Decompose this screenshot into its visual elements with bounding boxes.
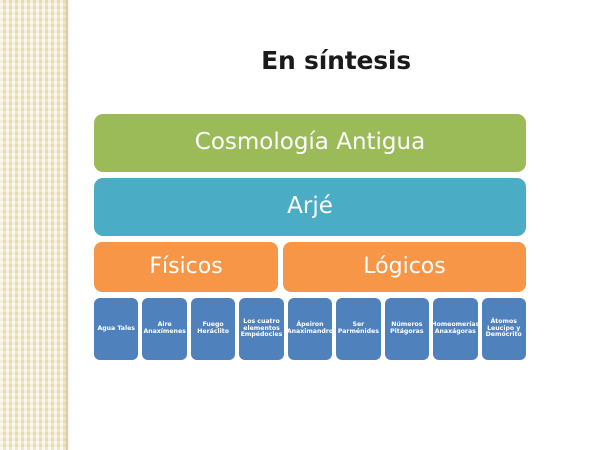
diagram-tier-arje: Arjé bbox=[94, 178, 526, 236]
diagram-node-homeomerias-anaxagoras[interactable]: Homeomerías Anaxágoras bbox=[433, 298, 477, 360]
diagram-node-numeros-pitagoras[interactable]: Números Pitágoras bbox=[385, 298, 429, 360]
node-line: Parménides bbox=[338, 329, 379, 336]
node-line: Heráclito bbox=[197, 329, 229, 336]
node-line: Agua Tales bbox=[97, 326, 135, 333]
node-line: Anaxímenes bbox=[143, 329, 185, 336]
diagram-node-apeiron-anaximandro[interactable]: Ápeiron Anaximandro bbox=[288, 298, 332, 360]
diagram-node-arje[interactable]: Arjé bbox=[94, 178, 526, 236]
node-line: Anaximandro bbox=[288, 329, 332, 336]
diagram-node-cuatro-elementos-empedocles[interactable]: Los cuatro elementos Empédocles bbox=[239, 298, 283, 360]
diagram-node-aire-anaximenes[interactable]: Aire Anaxímenes bbox=[142, 298, 186, 360]
slide-content-area: En síntesis Cosmología Antigua Arjé Físi… bbox=[72, 0, 600, 450]
diagram-node-atomos-leucipo-democrito[interactable]: Átomos Leucipo y Demócrito bbox=[482, 298, 526, 360]
diagram-node-fuego-heraclito[interactable]: Fuego Heráclito bbox=[191, 298, 235, 360]
node-line: Anaxágoras bbox=[433, 329, 477, 336]
diagram-node-cosmologia-antigua[interactable]: Cosmología Antigua bbox=[94, 114, 526, 172]
diagram-node-fisicos[interactable]: Físicos bbox=[94, 242, 278, 292]
diagram-tier-schools: Físicos Lógicos bbox=[94, 242, 526, 292]
slide-title: En síntesis bbox=[72, 46, 600, 75]
diagram-node-ser-parmenides[interactable]: Ser Parménides bbox=[336, 298, 380, 360]
diagram-tier-thinkers: Agua Tales Aire Anaxímenes Fuego Herácli… bbox=[94, 298, 526, 360]
node-line: Demócrito bbox=[486, 332, 522, 339]
diagram-tier-cosmology: Cosmología Antigua bbox=[94, 114, 526, 172]
node-line: Pitágoras bbox=[390, 329, 423, 336]
diagram-node-agua-tales[interactable]: Agua Tales bbox=[94, 298, 138, 360]
decorative-sidebar-strip bbox=[0, 0, 68, 450]
node-line: Empédocles bbox=[241, 332, 283, 339]
synthesis-diagram: Cosmología Antigua Arjé Físicos Lógicos … bbox=[94, 114, 526, 366]
diagram-node-logicos[interactable]: Lógicos bbox=[283, 242, 526, 292]
